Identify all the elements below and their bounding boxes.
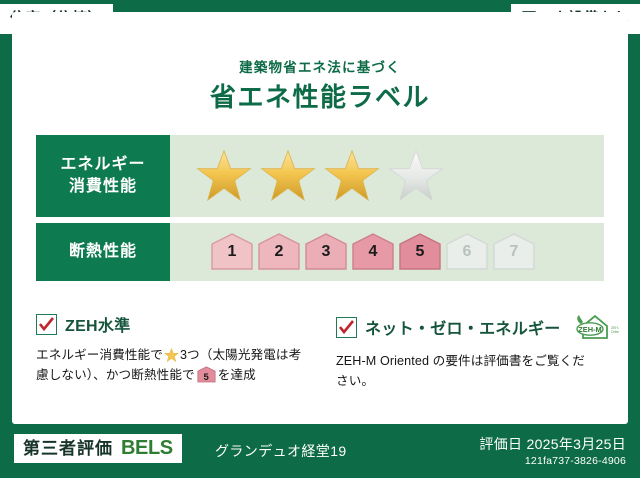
note-nze-header: ネット・ゼロ・エネルギー ZEH-M ZEH-M Oriented bbox=[336, 312, 590, 342]
star-filled-1 bbox=[196, 149, 252, 203]
label-card: 建築物省エネ法に基づく 省エネ性能ラベル エネルギー 消費性能 bbox=[12, 12, 628, 424]
note-zeh-text-3: を達成 bbox=[218, 368, 256, 382]
title-main: 省エネ性能ラベル bbox=[12, 82, 628, 113]
notes-section: ZEH水準 エネルギー消費性能で3つ（太陽光発電は考慮しない）、かつ断熱性能で5… bbox=[36, 312, 604, 392]
bels-badge: 第三者評価 BELS bbox=[14, 434, 182, 463]
note-zeh-standard: ZEH水準 エネルギー消費性能で3つ（太陽光発電は考慮しない）、かつ断熱性能で5… bbox=[36, 312, 320, 392]
note-zeh-text-1: エネルギー消費性能で bbox=[36, 348, 163, 362]
insulation-level-scale: 1 2 3 bbox=[170, 223, 604, 281]
insulation-badges: 1 2 3 bbox=[196, 232, 536, 272]
note-nze-title: ネット・ゼロ・エネルギー bbox=[365, 315, 561, 339]
energy-label-line1: エネルギー bbox=[60, 154, 145, 176]
bels-logo: BELS bbox=[121, 438, 173, 458]
checkbox-checked-icon bbox=[36, 314, 57, 335]
insulation-badge-5: 5 bbox=[398, 232, 442, 272]
evaluation-date: 評価日 2025年3月25日 bbox=[479, 434, 626, 454]
note-zeh-title: ZEH水準 bbox=[65, 312, 131, 336]
star-inline-icon bbox=[164, 348, 179, 363]
note-nze-body: ZEH-M Oriented の要件は評価書をご覧ください。 bbox=[336, 351, 590, 392]
insulation-badge-2: 2 bbox=[257, 232, 301, 272]
star-empty-4 bbox=[388, 149, 444, 203]
energy-star-rating bbox=[170, 135, 604, 217]
note-zeh-header: ZEH水準 bbox=[36, 312, 306, 336]
zeh-m-logo-icon: ZEH-M ZEH-M Oriented bbox=[573, 312, 619, 342]
row-energy-performance: エネルギー 消費性能 bbox=[36, 135, 604, 217]
third-party-eval-label: 第三者評価 bbox=[23, 440, 113, 457]
insulation-badge-3: 3 bbox=[304, 232, 348, 272]
energy-performance-label: 住宅（住棟） 再エネ設備なし 建築物省エネ法に基づく 省エネ性能ラベル エネルギ… bbox=[0, 0, 640, 478]
evaluation-id: 121fa737-3826-4906 bbox=[525, 455, 626, 467]
note-net-zero-energy: ネット・ゼロ・エネルギー ZEH-M ZEH-M Oriented ZEH-M … bbox=[320, 312, 604, 392]
row-insulation-performance: 断熱性能 1 2 bbox=[36, 223, 604, 281]
insulation-badge-7: 7 bbox=[492, 232, 536, 272]
energy-performance-label: エネルギー 消費性能 bbox=[36, 135, 170, 217]
insulation-inline-badge-number: 5 bbox=[197, 370, 216, 385]
note-zeh-star-count: 3つ bbox=[180, 348, 200, 362]
insulation-badge-4: 4 bbox=[351, 232, 395, 272]
insulation-label-line1: 断熱性能 bbox=[69, 241, 137, 263]
svg-text:Oriented: Oriented bbox=[611, 330, 619, 334]
insulation-performance-label: 断熱性能 bbox=[36, 223, 170, 281]
note-zeh-body: エネルギー消費性能で3つ（太陽光発電は考慮しない）、かつ断熱性能で5を達成 bbox=[36, 345, 306, 386]
metric-rows: エネルギー 消費性能 bbox=[36, 135, 604, 287]
footer-bar: 第三者評価 BELS グランデュオ経堂19 評価日 2025年3月25日 121… bbox=[0, 424, 640, 478]
page-title: 建築物省エネ法に基づく 省エネ性能ラベル bbox=[12, 60, 628, 113]
svg-text:ZEH-M: ZEH-M bbox=[578, 325, 601, 334]
star-filled-3 bbox=[324, 149, 380, 203]
title-subtitle: 建築物省エネ法に基づく bbox=[12, 60, 628, 76]
building-name: グランデュオ経堂19 bbox=[215, 441, 347, 461]
energy-label-line2: 消費性能 bbox=[69, 176, 137, 198]
insulation-inline-badge-icon: 5 bbox=[197, 366, 216, 383]
insulation-badge-1: 1 bbox=[210, 232, 254, 272]
checkbox-checked-icon bbox=[336, 317, 357, 338]
insulation-badge-6: 6 bbox=[445, 232, 489, 272]
star-filled-2 bbox=[260, 149, 316, 203]
